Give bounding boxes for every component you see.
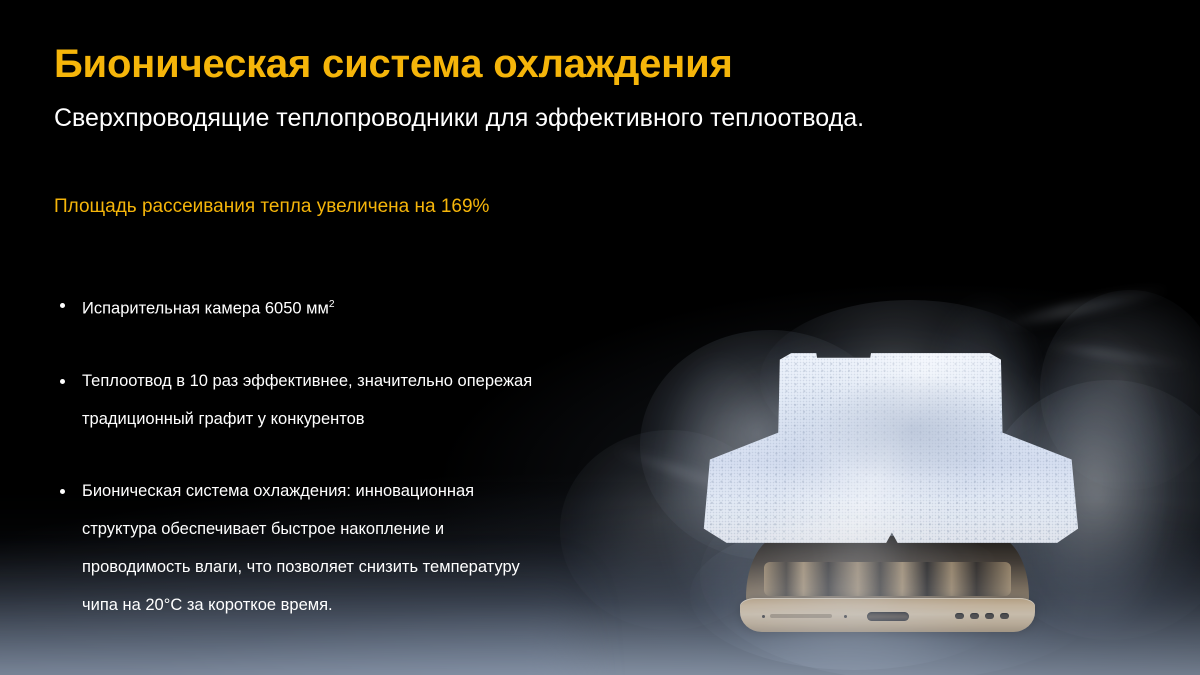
- list-item-line: структура обеспечивает быстрое накоплени…: [82, 510, 694, 548]
- list-item-line: чипа на 20°C за короткое время.: [82, 586, 694, 624]
- list-item: Испарительная камера 6050 мм2: [54, 286, 694, 328]
- slide-content: Бионическая система охлаждения Сверхпров…: [0, 0, 1200, 675]
- bullet-dot-icon: [60, 303, 65, 308]
- feature-bullet-list: Испарительная камера 6050 мм2 Теплоотвод…: [54, 286, 694, 624]
- bullet-dot-icon: [60, 379, 65, 384]
- superscript: 2: [329, 299, 335, 310]
- bullet-dot-icon: [60, 489, 65, 494]
- page-subtitle: Сверхпроводящие теплопроводники для эффе…: [54, 104, 864, 133]
- highlight-stat: Площадь рассеивания тепла увеличена на 1…: [54, 196, 489, 219]
- list-item-line: проводимость влаги, что позволяет снизит…: [82, 548, 694, 586]
- list-item-line: Бионическая система охлаждения: инноваци…: [82, 472, 694, 510]
- list-item-line: Теплоотвод в 10 раз эффективнее, значите…: [82, 362, 694, 400]
- list-item-line: Испарительная камера 6050 мм2: [82, 286, 694, 328]
- cooling-system-slide: Бионическая система охлаждения Сверхпров…: [0, 0, 1200, 675]
- list-item-line: традиционный графит у конкурентов: [82, 400, 694, 438]
- page-title: Бионическая система охлаждения: [54, 44, 733, 84]
- list-item: Теплоотвод в 10 раз эффективнее, значите…: [54, 362, 694, 438]
- list-item: Бионическая система охлаждения: инноваци…: [54, 472, 694, 624]
